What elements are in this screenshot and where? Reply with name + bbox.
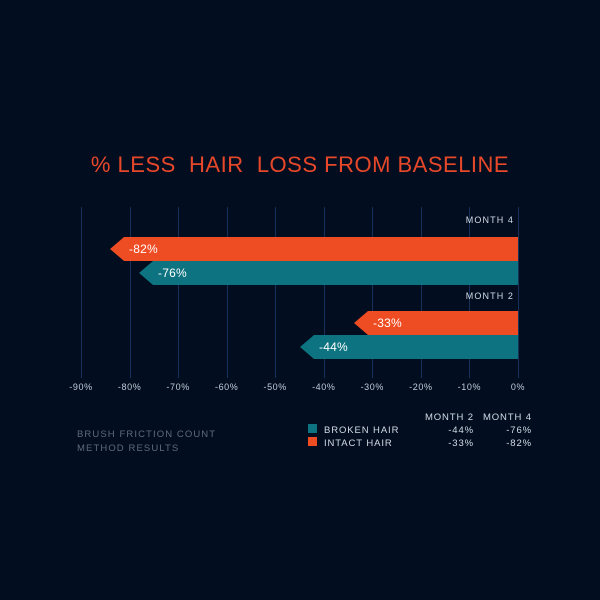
legend-swatch-cell	[308, 424, 324, 437]
legend-label-intact-hair: INTACT HAIR	[324, 437, 416, 450]
x-axis-tick: 0%	[511, 382, 525, 392]
legend-label-broken-hair: BROKEN HAIR	[324, 424, 416, 437]
bar-shape	[139, 261, 518, 285]
legend-row-broken-hair[interactable]: BROKEN HAIR -44% -76%	[308, 424, 532, 437]
legend-row-intact-hair[interactable]: INTACT HAIR -33% -82%	[308, 437, 532, 450]
page-title: % LESS HAIR LOSS FROM BASELINE	[0, 152, 600, 178]
legend-value-broken-month4: -76%	[474, 424, 532, 437]
legend: MONTH 2 MONTH 4 BROKEN HAIR -44% -76% IN…	[308, 411, 532, 450]
bar-month4-intact-hair[interactable]: -82%	[110, 237, 518, 261]
gridline	[227, 207, 228, 378]
gridline	[275, 207, 276, 378]
legend-column-header-month2: MONTH 2	[416, 411, 474, 424]
bar-value-label: -44%	[319, 340, 348, 354]
bar-shape	[110, 237, 518, 261]
x-axis-tick: -10%	[458, 382, 481, 392]
bar-month4-broken-hair[interactable]: -76%	[139, 261, 518, 285]
legend-swatch-orange-icon	[308, 437, 317, 446]
group-label-month4: MONTH 4	[394, 215, 514, 225]
legend-column-header-month4: MONTH 4	[474, 411, 532, 424]
bar-month2-broken-hair[interactable]: -44%	[300, 335, 518, 359]
legend-swatch-teal-icon	[308, 424, 317, 433]
gridline	[130, 207, 131, 378]
legend-header-row: MONTH 2 MONTH 4	[308, 411, 532, 424]
x-axis-tick: -60%	[215, 382, 238, 392]
footnote-line-2: METHOD RESULTS	[77, 442, 216, 456]
legend-swatch-cell	[308, 437, 324, 450]
bar-value-label: -82%	[129, 242, 158, 256]
x-axis-tick: -90%	[69, 382, 92, 392]
bar-value-label: -76%	[158, 266, 187, 280]
gridline	[178, 207, 179, 378]
footnote: BRUSH FRICTION COUNT METHOD RESULTS	[77, 428, 216, 456]
x-axis-tick: -50%	[263, 382, 286, 392]
chart-canvas: % LESS HAIR LOSS FROM BASELINE MONTH 4 M…	[0, 0, 600, 600]
gridline	[81, 207, 82, 378]
legend-value-broken-month2: -44%	[416, 424, 474, 437]
legend-header-spacer	[308, 411, 324, 424]
x-axis-tick: -40%	[312, 382, 335, 392]
x-axis-tick: -80%	[118, 382, 141, 392]
x-axis-tick: -30%	[361, 382, 384, 392]
bar-value-label: -33%	[373, 316, 402, 330]
bar-month2-intact-hair[interactable]: -33%	[354, 311, 518, 335]
legend-header-spacer-name	[324, 411, 416, 424]
x-axis-tick: -70%	[166, 382, 189, 392]
x-axis-tick: -20%	[409, 382, 432, 392]
legend-value-intact-month4: -82%	[474, 437, 532, 450]
legend-table: MONTH 2 MONTH 4 BROKEN HAIR -44% -76% IN…	[308, 411, 532, 450]
gridline	[518, 207, 519, 378]
footnote-line-1: BRUSH FRICTION COUNT	[77, 428, 216, 442]
group-label-month2: MONTH 2	[394, 291, 514, 301]
legend-value-intact-month2: -33%	[416, 437, 474, 450]
